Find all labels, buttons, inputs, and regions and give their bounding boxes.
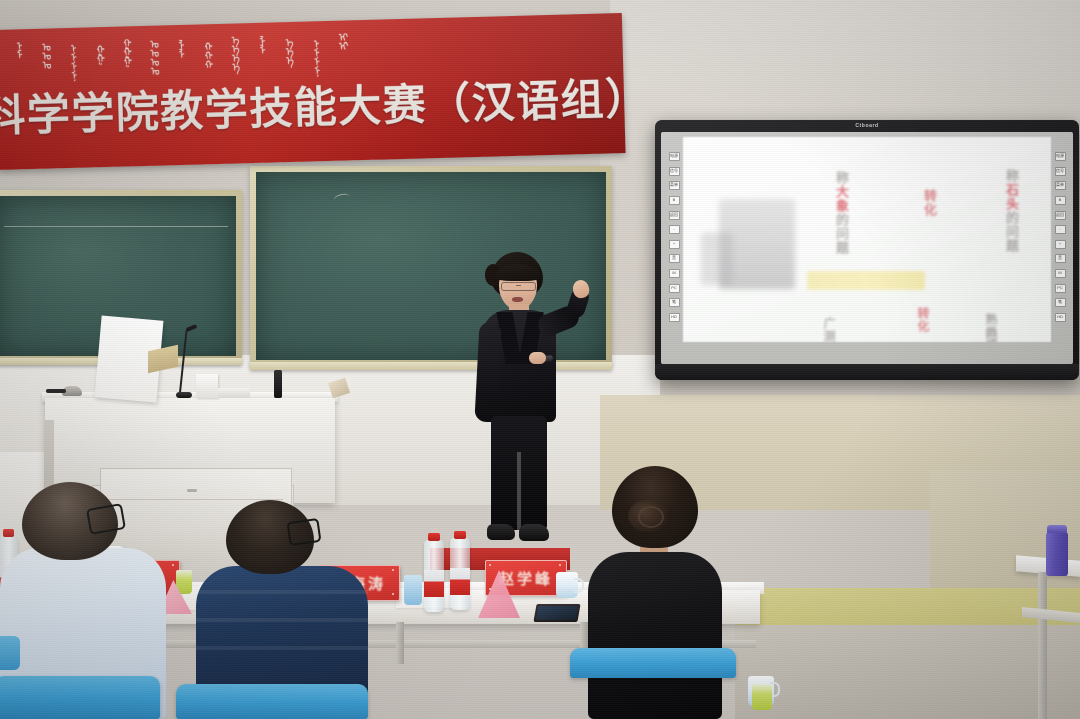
name-card-corner-dot bbox=[392, 569, 394, 571]
slide-text: 称大象的问题 bbox=[831, 171, 850, 255]
tablet-device[interactable] bbox=[533, 604, 580, 622]
white-blue-mug[interactable] bbox=[556, 572, 578, 598]
smartboard-screen[interactable]: 称大象的问题转化称石头的问题转化广测者熟悉或已解决 bbox=[683, 137, 1051, 342]
smartboard-side-button[interactable]: + bbox=[669, 240, 680, 249]
bottle-cap bbox=[428, 533, 440, 541]
smartboard-side-buttons-right[interactable]: 电源信号菜单B返回-+音MPC笔HD bbox=[1054, 150, 1066, 324]
smartboard-side-button[interactable]: B bbox=[1055, 196, 1066, 205]
water-bottle[interactable] bbox=[424, 540, 444, 612]
smartboard-side-button[interactable]: M bbox=[669, 269, 680, 278]
floor-right bbox=[735, 625, 1080, 719]
polo-stripe bbox=[196, 590, 368, 594]
chalk-smudge bbox=[333, 192, 351, 204]
chair[interactable] bbox=[176, 684, 368, 719]
banner-mongolian-word: ᠮᠮ bbox=[14, 42, 24, 60]
classroom-scene: ᠮᠮᠤᠤᠤᠨᠨᠨᠨᠭᠭᠭᠭᠭᠣᠣᠣᠣᠯᠯᠬᠬᠬᠡᠡᠡᠡᠯᠯᠡᠡᠡᠨᠨᠨᠨᠢᠢ 科… bbox=[0, 0, 1080, 719]
bottle-label bbox=[450, 568, 470, 595]
banner-mongolian-word: ᠡᠡᠡ bbox=[284, 39, 295, 66]
slide-text: 转化 bbox=[919, 189, 938, 217]
chair[interactable] bbox=[0, 676, 160, 719]
banner-mongolian-word: ᠭᠭ bbox=[95, 46, 105, 64]
polo-stripe bbox=[196, 618, 368, 622]
smartboard-side-button[interactable]: PC bbox=[669, 284, 680, 293]
name-card-corner-dot bbox=[489, 564, 491, 566]
cabinet-seam bbox=[109, 499, 283, 500]
banner-mongolian-word: ᠨᠨᠨᠨ bbox=[68, 45, 79, 81]
slide-ghost-shape-2 bbox=[701, 233, 733, 285]
smartboard-side-button[interactable]: 笔 bbox=[1055, 298, 1066, 307]
man2-glasses-icon bbox=[286, 518, 321, 546]
cabinet-handle[interactable] bbox=[187, 489, 197, 492]
smartboard-side-button[interactable]: 电源 bbox=[669, 152, 680, 161]
name-card-corner-dot bbox=[559, 564, 561, 566]
smartboard-side-button[interactable]: - bbox=[1055, 225, 1066, 234]
presenter-glasses-icon bbox=[501, 282, 536, 291]
presenter-hand-left bbox=[529, 352, 546, 364]
microphone-base bbox=[176, 392, 192, 398]
presenter-shoe-right bbox=[519, 524, 549, 541]
banner-mongolian-word: ᠬᠬᠬ bbox=[203, 43, 214, 70]
bottle-cap bbox=[3, 529, 14, 537]
chalk-line bbox=[4, 226, 228, 227]
smartboard-side-button[interactable]: 笔 bbox=[669, 298, 680, 307]
podium-white-box bbox=[196, 374, 218, 398]
banner-mongolian-word: ᠣᠣᠣᠣ bbox=[149, 41, 160, 77]
smartboard-side-button[interactable]: PC bbox=[1055, 284, 1066, 293]
smartboard-side-button[interactable]: B bbox=[669, 196, 680, 205]
black-cylinder-object bbox=[274, 370, 282, 398]
smartboard-bezel: 电源信号菜单B返回-+音MPC笔HD 电源信号菜单B返回-+音MPC笔HD 称大… bbox=[661, 132, 1073, 364]
slide-text: 已解决 bbox=[983, 329, 1000, 342]
smartboard-side-button[interactable]: 菜单 bbox=[1055, 181, 1066, 190]
banner-mongolian-word: ᠭᠭᠭ bbox=[122, 39, 133, 66]
purple-bottle[interactable] bbox=[1046, 532, 1068, 576]
slide-text: 称石头的问题 bbox=[1001, 169, 1020, 253]
smartboard-base bbox=[655, 364, 1079, 380]
banner-mongolian-word: ᠢᠢ bbox=[338, 33, 348, 51]
banner-mongolian-word: ᠯᠯ bbox=[176, 42, 186, 60]
bottle-label bbox=[424, 570, 444, 597]
competition-banner: ᠮᠮᠤᠤᠤᠨᠨᠨᠨᠭᠭᠭᠭᠭᠣᠣᠣᠣᠯᠯᠬᠬᠬᠡᠡᠡᠡᠯᠯᠡᠡᠡᠨᠨᠨᠨᠢᠢ 科… bbox=[0, 13, 626, 170]
podium-cable bbox=[46, 389, 66, 393]
podium-white-tray bbox=[218, 388, 250, 398]
table-leg bbox=[396, 622, 404, 664]
green-cup[interactable] bbox=[752, 684, 772, 710]
banner-mongolian-word: ᠤᠤᠤ bbox=[41, 43, 52, 70]
smartboard-side-button[interactable]: M bbox=[1055, 269, 1066, 278]
smartboard-brand-label: Ctboard bbox=[655, 123, 1079, 129]
smartboard-side-button[interactable]: 音 bbox=[1055, 254, 1066, 263]
woman-torso bbox=[588, 552, 722, 719]
polo-stripe bbox=[196, 646, 368, 650]
smartboard-side-button[interactable]: 电源 bbox=[1055, 152, 1066, 161]
smartboard-side-button[interactable]: 音 bbox=[669, 254, 680, 263]
slide-text: 广测者 bbox=[821, 317, 838, 342]
presenter-mouth bbox=[512, 297, 523, 302]
smartboard-side-button[interactable]: - bbox=[669, 225, 680, 234]
smartboard-side-button[interactable]: 返回 bbox=[1055, 211, 1066, 220]
smartboard-side-button[interactable]: 信号 bbox=[1055, 167, 1066, 176]
chair[interactable] bbox=[570, 648, 736, 678]
slide-text: 转化 bbox=[915, 307, 932, 333]
smartboard-side-button[interactable]: HD bbox=[1055, 313, 1066, 322]
slide-highlight-bar bbox=[807, 271, 925, 290]
smartboard-side-button[interactable]: + bbox=[1055, 240, 1066, 249]
smartboard[interactable]: Ctboard 电源信号菜单B返回-+音MPC笔HD 电源信号菜单B返回-+音M… bbox=[655, 120, 1079, 380]
banner-mongolian-word: ᠡᠡᠡᠡ bbox=[230, 36, 241, 72]
chair[interactable] bbox=[0, 636, 20, 670]
name-card-corner-dot bbox=[392, 593, 394, 595]
banner-mongolian-word: ᠨᠨᠨᠨ bbox=[311, 40, 322, 76]
smartboard-side-button[interactable]: 信号 bbox=[669, 167, 680, 176]
smartboard-side-button[interactable]: HD bbox=[669, 313, 680, 322]
woman-hair-bun-detail bbox=[638, 506, 664, 528]
name-card-corner-dot bbox=[172, 564, 174, 566]
smartboard-side-button[interactable]: 返回 bbox=[669, 211, 680, 220]
bottle-cap bbox=[454, 531, 466, 539]
banner-mongolian-word: ᠯᠯ bbox=[257, 38, 267, 56]
presenter-leg-gap bbox=[517, 452, 521, 530]
water-bottle[interactable] bbox=[450, 538, 470, 610]
smartboard-side-buttons-left[interactable]: 电源信号菜单B返回-+音MPC笔HD bbox=[668, 150, 680, 324]
bottle-cap bbox=[1047, 525, 1067, 533]
presenter bbox=[465, 252, 595, 562]
side-desk-leg bbox=[1038, 572, 1047, 719]
blue-cup[interactable] bbox=[404, 575, 422, 605]
smartboard-side-button[interactable]: 菜单 bbox=[669, 181, 680, 190]
presenter-shoe-left bbox=[487, 524, 515, 540]
